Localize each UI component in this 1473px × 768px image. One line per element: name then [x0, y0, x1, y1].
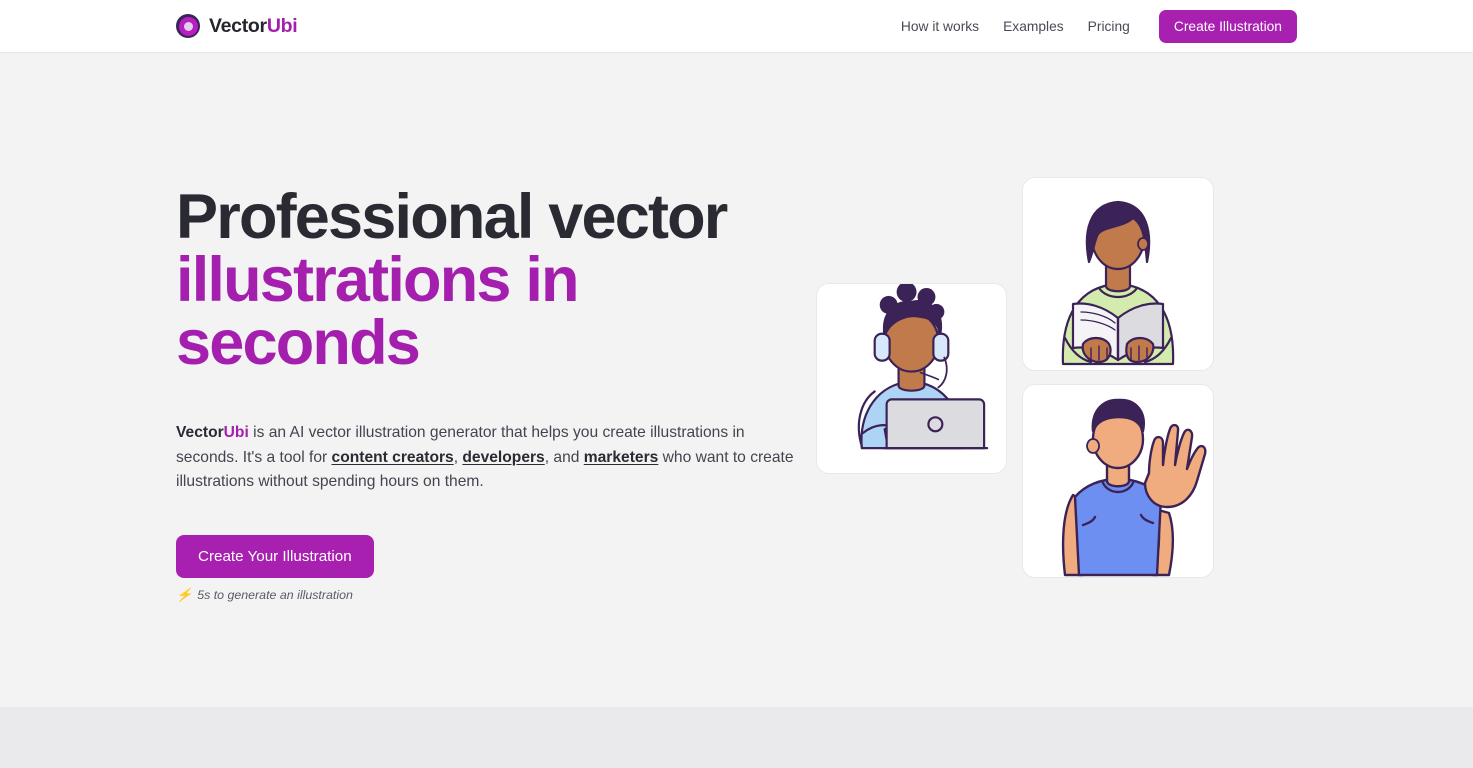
- main-nav: How it works Examples Pricing Create Ill…: [889, 10, 1297, 43]
- illustration-card-waving[interactable]: [1022, 384, 1214, 578]
- reading-woman-illustration: [1023, 178, 1213, 370]
- brand-name-primary: Vector: [209, 15, 267, 37]
- nav-link-examples[interactable]: Examples: [991, 19, 1076, 34]
- laptop-person-illustration: [817, 284, 1006, 473]
- brand-name: VectorUbi: [209, 15, 297, 38]
- nav-link-how-it-works[interactable]: How it works: [889, 19, 991, 34]
- hero-inner: Professional vectorillustrations insecon…: [0, 53, 1473, 707]
- hero-link-developers[interactable]: developers: [462, 449, 544, 466]
- illustration-card-laptop[interactable]: [816, 283, 1007, 474]
- illustration-card-reading[interactable]: [1022, 177, 1214, 371]
- nav-link-pricing[interactable]: Pricing: [1076, 19, 1142, 34]
- page-title: Professional vectorillustrations insecon…: [176, 186, 796, 375]
- hero-speed-note-label: 5s to generate an illustration: [197, 588, 353, 602]
- next-section: [0, 707, 1473, 768]
- brand-name-accent: Ubi: [267, 15, 298, 37]
- hero-create-your-illustration-button[interactable]: Create Your Illustration: [176, 535, 374, 578]
- waving-man-illustration: [1023, 385, 1213, 577]
- hero-section: Professional vectorillustrations insecon…: [0, 53, 1473, 707]
- lightning-bolt-icon: ⚡: [176, 588, 192, 601]
- page-title-line-1: Professional vector: [176, 182, 727, 252]
- hero-illustrations: [816, 53, 1297, 707]
- hero-desc-brand-primary: Vector: [176, 424, 224, 441]
- hero-desc-brand-accent: Ubi: [224, 424, 249, 441]
- hero-link-marketers[interactable]: marketers: [584, 449, 659, 466]
- hero-description: VectorUbi is an AI vector illustration g…: [176, 421, 801, 495]
- hero-speed-note: ⚡ 5s to generate an illustration: [176, 588, 816, 602]
- header-create-illustration-button[interactable]: Create Illustration: [1159, 10, 1297, 43]
- hero-desc-sep-2: , and: [545, 449, 584, 466]
- circle-target-icon: [176, 14, 200, 38]
- hero-copy: Professional vectorillustrations insecon…: [176, 53, 816, 602]
- hero-link-content-creators[interactable]: content creators: [332, 449, 454, 466]
- page-title-line-3: seconds: [176, 308, 419, 378]
- site-header: VectorUbi How it works Examples Pricing …: [0, 0, 1473, 53]
- page-title-line-2: illustrations in: [176, 245, 578, 315]
- header-inner: VectorUbi How it works Examples Pricing …: [0, 10, 1473, 43]
- brand-logo[interactable]: VectorUbi: [176, 14, 297, 38]
